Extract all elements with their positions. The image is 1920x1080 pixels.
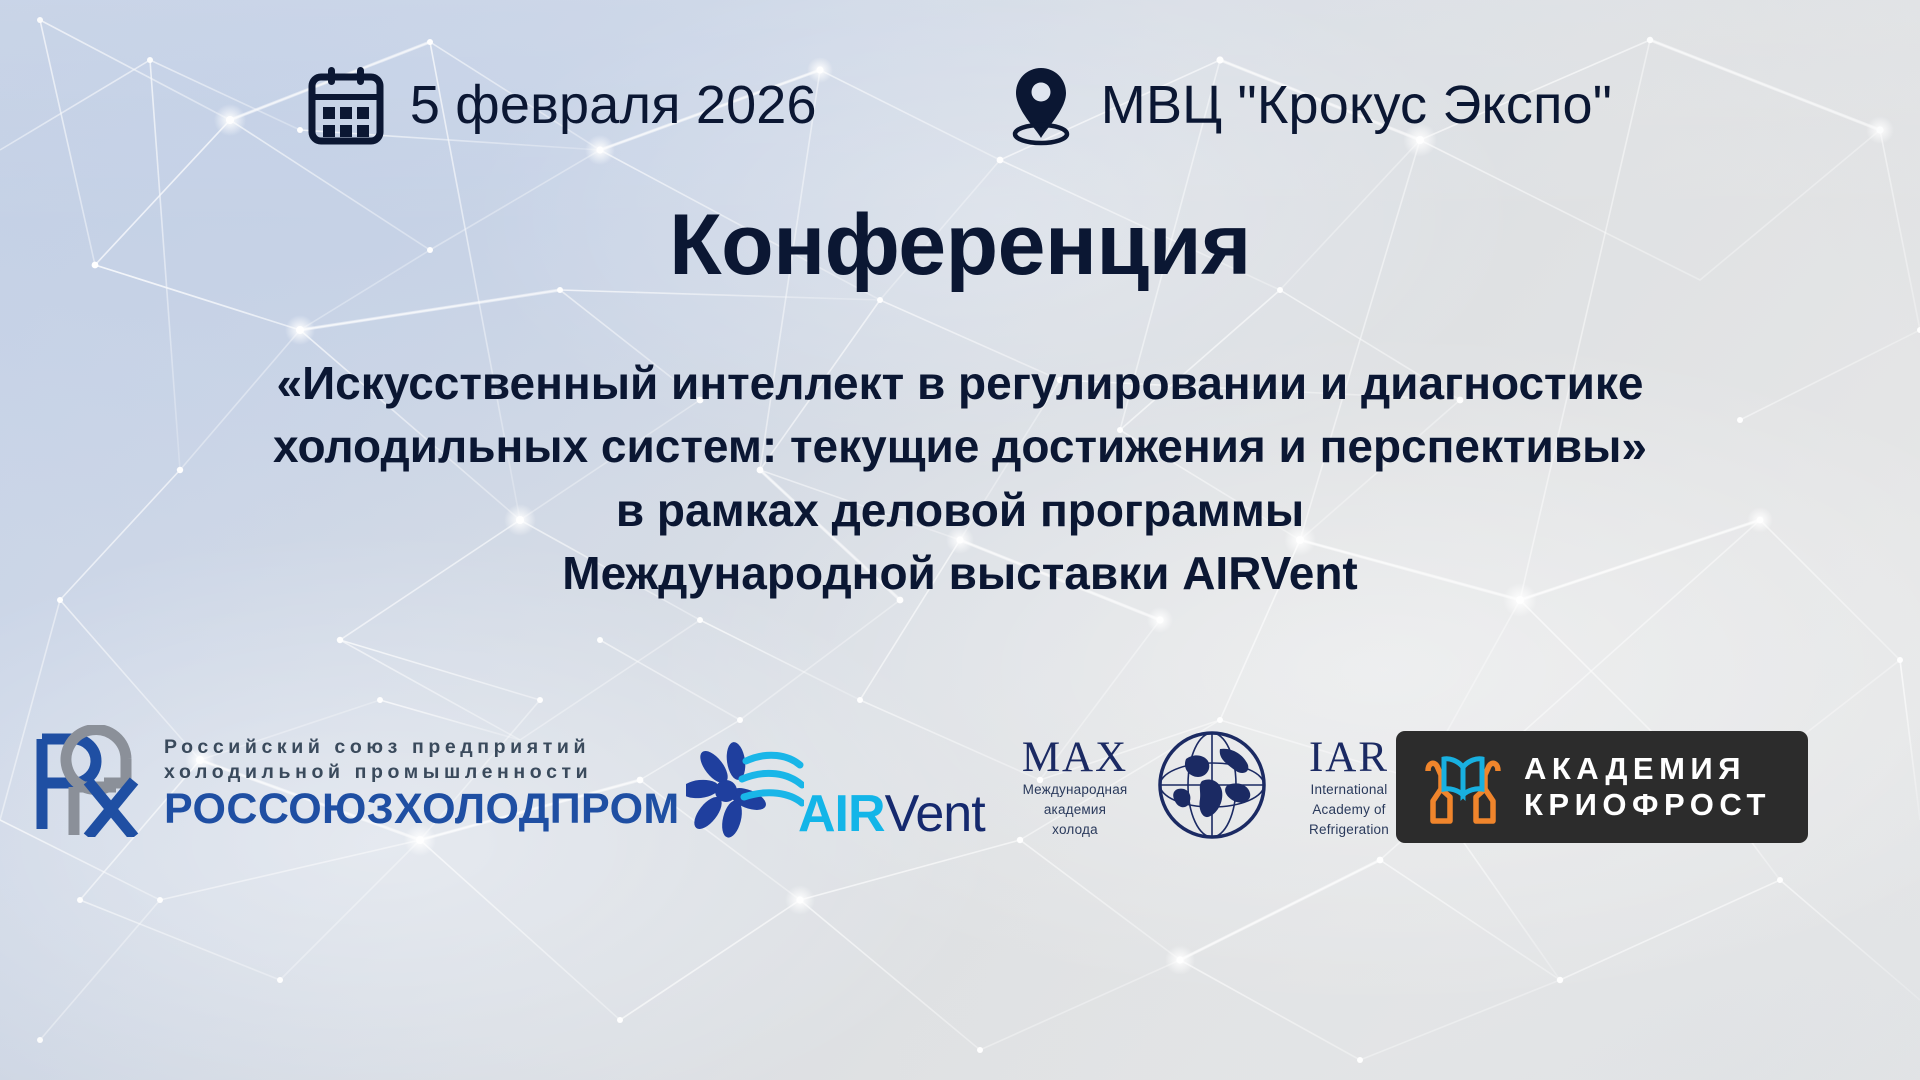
event-venue: МВЦ "Крокус Экспо" <box>1007 64 1612 146</box>
page-title: Конференция <box>0 200 1920 290</box>
akademiya-kriofrost-logo[interactable]: АКАДЕМИЯ КРИОФРОСТ <box>1396 731 1808 843</box>
max-subtitle-line-1: Международная <box>1000 780 1150 800</box>
map-pin-icon <box>1007 64 1075 146</box>
rshp-emblem-icon <box>30 725 148 842</box>
event-date: 5 февраля 2026 <box>308 65 817 145</box>
globe-icon <box>1156 729 1268 846</box>
airvent-fan-icon <box>686 741 804 846</box>
subtitle-line-1: «Искусственный интеллект в регулировании… <box>0 352 1920 415</box>
conference-subtitle: «Искусственный интеллект в регулировании… <box>0 352 1920 606</box>
conference-banner: 5 февраля 2026 МВЦ "Крокус Экспо" Конфер… <box>0 0 1920 1080</box>
rshp-wordmark: РОССОЮЗХОЛОДПРОМ <box>164 787 680 832</box>
hands-book-icon <box>1420 745 1506 830</box>
rossoyuzkholodprom-logo[interactable]: Российский союз предприятий холодильной … <box>30 725 680 842</box>
calendar-icon <box>308 65 384 145</box>
event-date-text: 5 февраля 2026 <box>410 78 817 132</box>
subtitle-line-2: холодильных систем: текущие достижения и… <box>0 415 1920 478</box>
rshp-tagline-line-1: Российский союз предприятий <box>164 735 680 760</box>
max-iar-logo[interactable]: МАХ Международная академия холода <box>1000 729 1424 846</box>
sponsor-logo-strip: Российский союз предприятий холодильной … <box>0 725 1920 875</box>
max-subtitle-line-3: холода <box>1000 820 1150 840</box>
kriofrost-line-1: АКАДЕМИЯ <box>1524 751 1771 787</box>
event-meta-row: 5 февраля 2026 МВЦ "Крокус Экспо" <box>0 64 1920 146</box>
airvent-word-air: AIR <box>798 785 885 843</box>
kriofrost-line-2: КРИОФРОСТ <box>1524 787 1771 823</box>
max-subtitle-line-2: академия <box>1000 800 1150 820</box>
max-abbreviation: МАХ <box>1000 735 1150 780</box>
rshp-tagline-line-2: холодильной промышленности <box>164 760 680 785</box>
subtitle-line-4: Международной выставки AIRVent <box>0 542 1920 605</box>
airvent-logo[interactable]: AIRVent <box>686 741 985 846</box>
subtitle-line-3: в рамках деловой программы <box>0 479 1920 542</box>
event-venue-text: МВЦ "Крокус Экспо" <box>1101 78 1612 132</box>
airvent-word-vent: Vent <box>885 785 985 843</box>
